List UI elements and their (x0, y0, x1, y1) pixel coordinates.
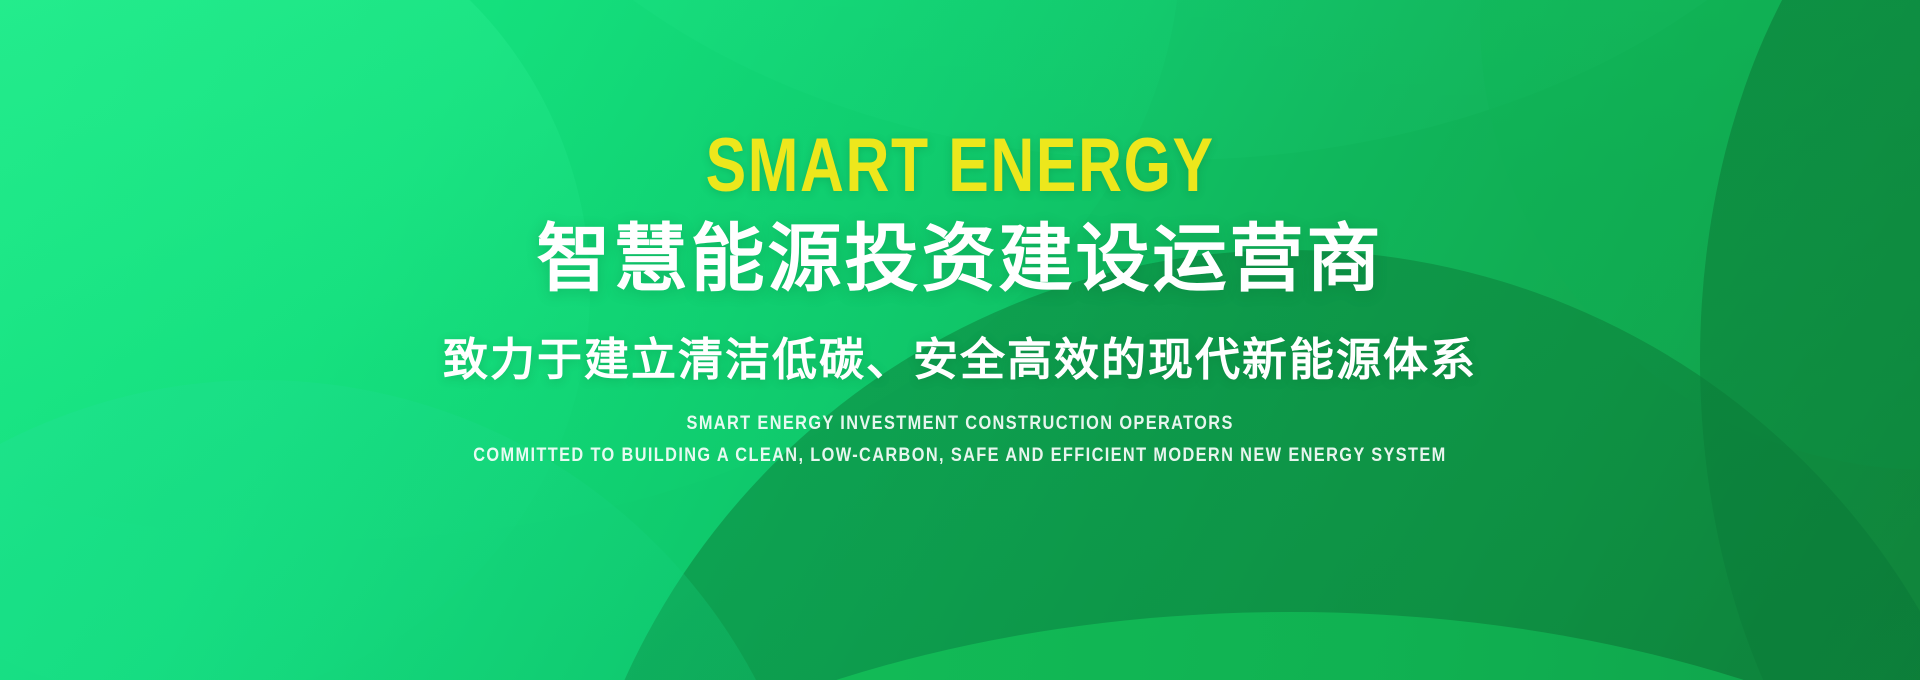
caption-group: SMART ENERGY INVESTMENT CONSTRUCTION OPE… (394, 411, 1526, 468)
hero-banner: SMART ENERGY 智慧能源投资建设运营商 致力于建立清洁低碳、安全高效的… (0, 0, 1920, 680)
banner-content: SMART ENERGY 智慧能源投资建设运营商 致力于建立清洁低碳、安全高效的… (0, 0, 1920, 680)
caption-line-1: SMART ENERGY INVESTMENT CONSTRUCTION OPE… (686, 411, 1233, 437)
headline-chinese: 智慧能源投资建设运营商 (537, 220, 1384, 298)
caption-line-2: COMMITTED TO BUILDING A CLEAN, LOW-CARBO… (473, 443, 1446, 469)
headline-english: SMART ENERGY (705, 128, 1214, 204)
subheadline-chinese: 致力于建立清洁低碳、安全高效的现代新能源体系 (443, 334, 1477, 386)
